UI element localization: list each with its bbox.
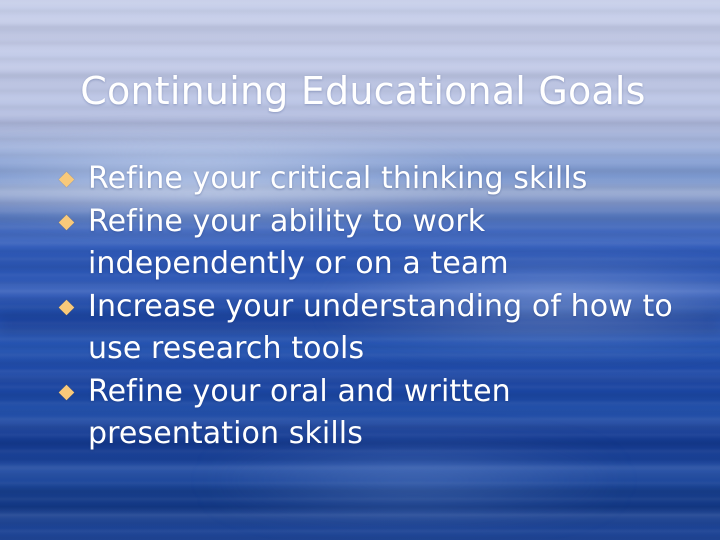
bullet-text: Refine your critical thinking skills	[88, 158, 690, 200]
diamond-bullet-icon	[59, 215, 75, 231]
bullet-item: Increase your understanding of how to us…	[58, 286, 690, 370]
bullet-text: Refine your ability to work independentl…	[88, 201, 690, 285]
presentation-slide: Continuing Educational Goals Refine your…	[0, 0, 720, 540]
diamond-bullet-icon	[59, 385, 75, 401]
bullet-text: Increase your understanding of how to us…	[88, 286, 690, 370]
diamond-bullet-icon	[59, 172, 75, 188]
slide-title: Continuing Educational Goals	[40, 68, 686, 114]
bullet-item: Refine your ability to work independentl…	[58, 201, 690, 285]
bullet-item: Refine your critical thinking skills	[58, 158, 690, 200]
slide-content: Continuing Educational Goals Refine your…	[0, 0, 720, 540]
bullet-list: Refine your critical thinking skills Ref…	[58, 158, 690, 456]
bullet-item: Refine your oral and written presentatio…	[58, 371, 690, 455]
diamond-bullet-icon	[59, 300, 75, 316]
bullet-text: Refine your oral and written presentatio…	[88, 371, 690, 455]
